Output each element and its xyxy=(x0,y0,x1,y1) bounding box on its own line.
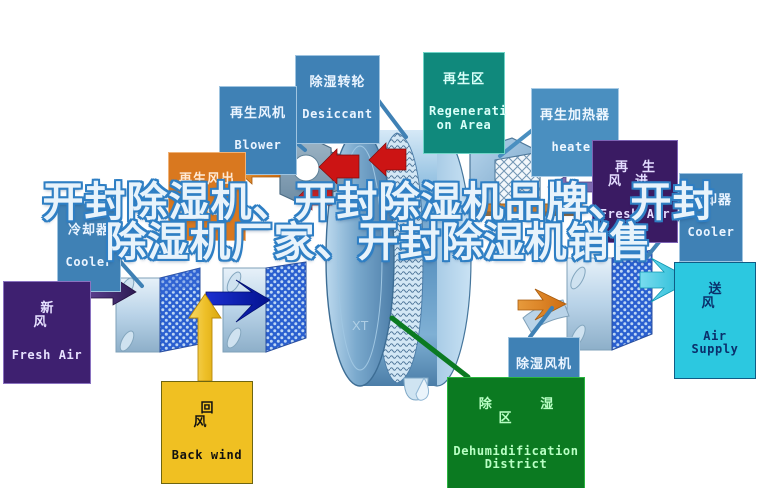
condensate-drip xyxy=(404,378,429,400)
label-cooler-right-en: Cooler xyxy=(685,226,737,239)
label-regeneration-blower-cn: 再生风机 xyxy=(225,107,291,122)
label-regeneration-exhaust-cn: 再生风出 xyxy=(174,173,240,188)
label-regeneration-area-cn: 再生区 xyxy=(429,73,499,88)
label-regeneration-exhaust: 再生风出 Exhaust xyxy=(168,152,246,241)
label-dehumidification-blower-cn: 除湿风机 xyxy=(514,358,574,373)
cooler-right-module xyxy=(223,262,306,352)
label-regeneration-area-en: Regenerati on Area xyxy=(429,105,499,132)
label-fresh-air-inlet-en: Fresh Air xyxy=(9,349,85,362)
label-regeneration-exhaust-en: Exhaust xyxy=(174,205,240,218)
label-dehumidification-district-en: Dehumidification District xyxy=(453,445,579,472)
label-fresh-air-inlet-cn: 新 风 xyxy=(9,302,85,331)
label-regeneration-air-inlet-en: Fresh Air xyxy=(598,208,672,221)
cooler-left-module xyxy=(116,268,200,353)
svg-text:XT: XT xyxy=(352,318,369,333)
label-cooler-right-cn: 冷却器 xyxy=(685,194,737,209)
label-cooler-right: 冷却器 Cooler xyxy=(679,173,743,262)
dehumidifier-schematic: XT xyxy=(0,0,757,488)
label-air-supply-en: Air Supply xyxy=(680,330,750,357)
label-air-supply: 送 风 Air Supply xyxy=(674,262,756,379)
label-regeneration-air-inlet-cn: 再生风进 xyxy=(598,161,672,190)
label-regeneration-air-inlet: 再生风进 Fresh Air xyxy=(592,140,678,243)
label-desiccant-rotor-cn: 除湿转轮 xyxy=(301,76,374,91)
label-cooler-left: 冷却器 Cooler xyxy=(57,203,121,292)
arrow-regen-inlet-icon xyxy=(548,176,596,198)
label-back-wind-en: Back wind xyxy=(167,449,247,462)
label-back-wind-cn: 回 风 xyxy=(167,402,247,431)
label-cooler-left-en: Cooler xyxy=(63,256,115,269)
label-desiccant-rotor-en: Desiccant xyxy=(301,108,374,121)
label-back-wind: 回 风 Back wind xyxy=(161,381,253,484)
label-regeneration-heater-cn: 再生加热器 xyxy=(537,109,613,124)
label-cooler-left-cn: 冷却器 xyxy=(63,224,115,239)
label-air-supply-cn: 送 风 xyxy=(680,283,750,312)
label-dehumidification-district-cn: 除 湿 区 xyxy=(453,398,579,427)
label-fresh-air-inlet: 新 风 Fresh Air xyxy=(3,281,91,384)
label-regeneration-area: 再生区 Regenerati on Area xyxy=(423,52,505,154)
label-desiccant-rotor: 除湿转轮 Desiccant xyxy=(295,55,380,144)
label-regeneration-blower-en: Blower xyxy=(225,139,291,152)
label-dehumidification-district: 除 湿 区 Dehumidification District xyxy=(447,377,585,488)
